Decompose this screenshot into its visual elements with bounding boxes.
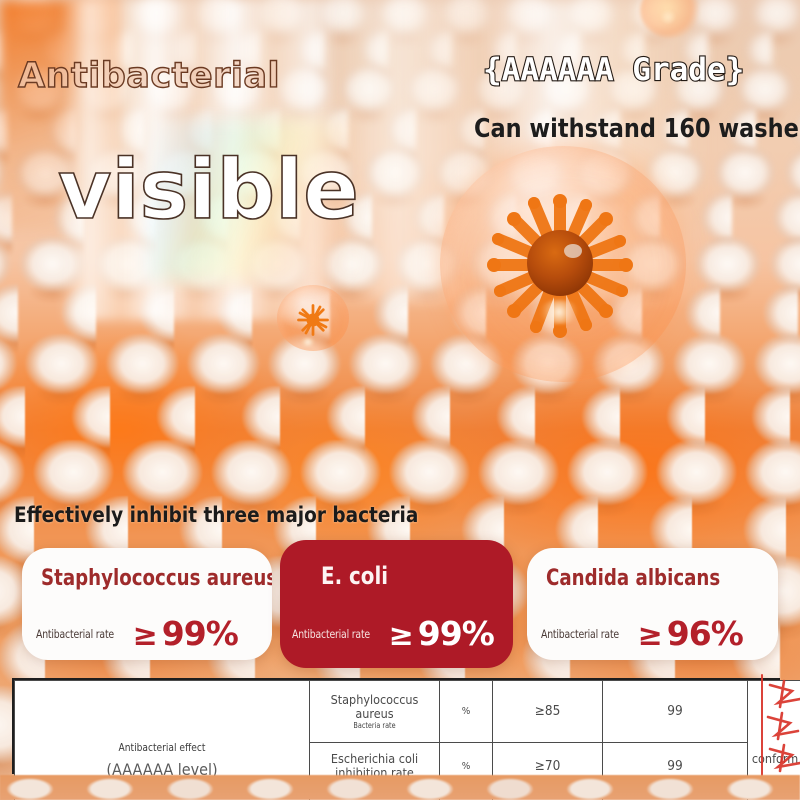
bokeh-core <box>659 10 677 24</box>
bacteria-card-staphylococcus[interactable]: Staphylococcus aureus Antibacterial rate… <box>22 548 272 660</box>
card-rate-label: Antibacterial rate <box>36 627 114 641</box>
card-rate-row: Antibacterial rate ≥99% <box>292 614 494 653</box>
card-rate-percent: 99% <box>418 614 494 653</box>
greater-equal-icon: ≥ <box>133 618 157 653</box>
card-rate-value: ≥99% <box>133 614 238 653</box>
card-rate-label: Antibacterial rate <box>541 627 619 641</box>
card-rate-row: Antibacterial rate ≥99% <box>36 614 238 653</box>
greater-equal-icon: ≥ <box>389 618 413 653</box>
card-title: Staphylococcus aureus <box>41 566 272 591</box>
card-rate-value: ≥96% <box>638 614 743 653</box>
card-title: E. coli <box>321 562 388 590</box>
card-rate-percent: 99% <box>162 614 238 653</box>
cell-standard: ≥85 <box>493 681 603 743</box>
card-rate-row: Antibacterial rate ≥96% <box>541 614 743 653</box>
headline-grade-badge: {AAAAAA Grade} <box>483 52 744 88</box>
cell-unit: % <box>440 681 493 743</box>
item-sub-label: Bacteria rate <box>318 721 431 730</box>
microbe-icon-small <box>287 300 339 340</box>
card-title: Candida albicans <box>546 566 720 591</box>
poster-root: Antibacterial visible {AAAAAA Grade} Can… <box>0 0 800 800</box>
bacteria-card-ecoli[interactable]: E. coli Antibacterial rate ≥99% <box>280 540 513 668</box>
spec-table-container: Antibacterial effect (AAAAAA level) Stap… <box>12 678 780 774</box>
cell-measured-value: 99 <box>603 681 748 743</box>
effect-label-small: Antibacterial effect <box>29 741 296 754</box>
table-row: Antibacterial effect (AAAAAA level) Stap… <box>15 681 800 743</box>
greater-equal-icon: ≥ <box>638 618 662 653</box>
card-rate-value: ≥99% <box>389 614 494 653</box>
fabric-strip-bottom <box>0 775 800 800</box>
cell-item-name: Staphylococcus aureus Bacteria rate <box>310 681 440 743</box>
headline-antibacterial: Antibacterial <box>18 56 280 96</box>
bacteria-card-candida[interactable]: Candida albicans Antibacterial rate ≥96% <box>527 548 778 660</box>
headline-visible: visible <box>58 150 359 232</box>
card-rate-label: Antibacterial rate <box>292 627 370 641</box>
card-rate-percent: 96% <box>667 614 743 653</box>
bubble-highlight-small <box>300 338 316 346</box>
item-name: Staphylococcus aureus <box>312 693 437 722</box>
headline-wash-durability: Can withstand 160 washes <box>474 114 800 144</box>
bubble-highlight-large <box>538 300 580 324</box>
section-heading-inhibit: Effectively inhibit three major bacteria <box>14 503 418 527</box>
